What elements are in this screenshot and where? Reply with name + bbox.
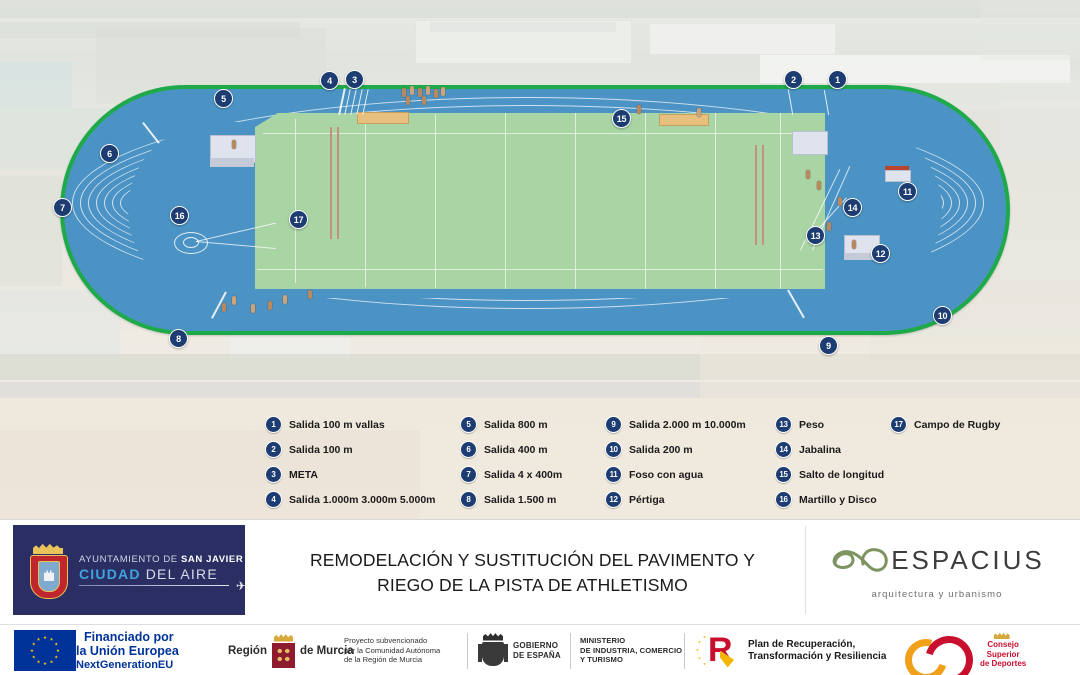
legend-item-8[interactable]: 8Salida 1.500 m [460,487,562,512]
legend-item-17[interactable]: 17Campo de Rugby [890,412,1000,437]
footer-divider [684,633,685,669]
legend-badge-13: 13 [775,416,792,433]
legend-badge-10: 10 [605,441,622,458]
del-aire-word: DEL AIRE [141,566,218,582]
csd-line3: de Deportes [980,659,1026,669]
legend-label-7: Salida 4 x 400m [484,469,562,481]
runner-figure [410,86,414,95]
pitch-line [780,113,781,289]
marker-4-salida-1000-3000-5000[interactable]: 4 [320,71,339,90]
prtr-line2: Transformación y Resiliencia [748,651,886,663]
legend-item-12[interactable]: 12Pértiga [605,487,746,512]
star-icon [696,649,699,652]
legend-item-11[interactable]: 11Foso con agua [605,462,746,487]
shield-inner [38,561,60,592]
legend-label-9: Salida 2.000 m 10.000m [629,419,746,431]
eu-star-icon [50,637,54,641]
ministerio-industria-comercio-turismo: MINISTERIO DE INDUSTRIA, COMERCIO Y TURI… [580,625,682,675]
airplane-icon: ✈ [236,579,246,593]
pillar-icon [478,644,482,662]
athlete-figure [806,170,810,179]
espacius-wordmark-row: ESPACIUS [829,540,1045,580]
high-jump-mat-side [210,158,254,167]
legend-column-2: 5Salida 800 m6Salida 400 m7Salida 4 x 40… [460,412,562,512]
subvencion-text: Proyecto subvencionado por la Comunidad … [344,636,440,665]
ministerio-text: MINISTERIO DE INDUSTRIA, COMERCIO Y TURI… [580,636,682,665]
legend-column-4: 13Peso14Jabalina15Salto de longitud16Mar… [775,412,884,512]
legend-item-6[interactable]: 6Salida 400 m [460,437,562,462]
ayuntamiento-prefix: AYUNTAMIENTO DE [79,554,181,565]
pillar-icon [504,644,508,662]
legend-label-10: Salida 200 m [629,444,693,456]
runner-figure [251,304,255,313]
pitch-line [295,119,296,283]
runner-figure [308,290,312,299]
runner-figure [232,296,236,305]
athlete-figure [827,222,831,231]
eu-star-icon [43,636,47,640]
rugby-goal-post [762,145,764,245]
legend-label-1: Salida 100 m vallas [289,419,385,431]
pitch-line [505,113,506,289]
eu-star-icon [50,660,54,664]
spain-coat-of-arms-icon [478,633,508,669]
eu-line2: la Unión Europea [76,644,179,658]
murcia-pre: Región [228,645,267,657]
long-jump-sandpit [357,112,409,124]
runner-figure [422,96,426,105]
legend-label-12: Pértiga [629,494,665,506]
legend-badge-12: 12 [605,491,622,508]
eu-star-icon [54,642,58,646]
legend-item-10[interactable]: 10Salida 200 m [605,437,746,462]
eu-star-icon [43,662,47,666]
star-icon [703,663,706,666]
runner-figure [402,88,406,97]
coat-of-arms-icon [27,543,69,597]
espacius-tagline: arquitectura y urbanismo [872,589,1003,600]
ayuntamiento-san-javier-logo: AYUNTAMIENTO DE SAN JAVIER CIUDAD DEL AI… [13,525,245,615]
project-title-line1: REMODELACIÓN Y SUSTITUCIÓN DEL PAVIMENTO… [260,548,805,573]
pitch-line [575,113,576,289]
eu-star-icon [37,637,41,641]
legend-item-4[interactable]: 4Salida 1.000m 3.000m 5.000m [265,487,436,512]
legend-badge-8: 8 [460,491,477,508]
legend-label-2: Salida 100 m [289,444,353,456]
pitch-line [435,114,436,288]
athlete-figure [817,181,821,190]
shield-body [272,643,295,668]
espacius-monogram-icon [829,540,891,580]
legend-item-13[interactable]: 13Peso [775,412,884,437]
legend-item-1[interactable]: 1Salida 100 m vallas [265,412,436,437]
ministerio-line1: MINISTERIO [580,636,682,646]
legend-badge-6: 6 [460,441,477,458]
eu-line3: NextGenerationEU [76,658,179,672]
eu-star-icon [37,660,41,664]
csd-logo: Consejo Superior de Deportes [905,625,1026,675]
subvencion-line2: por la Comunidad Autónoma [344,646,440,656]
legend: 1Salida 100 m vallas2Salida 100 m3META4S… [265,412,1065,512]
subvencion-line3: de la Región de Murcia [344,655,440,665]
prtr-emblem-icon: R [696,631,742,671]
rugby-goal-post [755,145,757,245]
marker-10-salida-200-m[interactable]: 10 [933,306,952,325]
prtr-text: Plan de Recuperación, Transformación y R… [748,639,886,663]
legend-badge-9: 9 [605,416,622,433]
long-jump-sandpit [659,114,709,126]
gobierno-de-espana-logo: GOBIERNO DE ESPAÑA [478,625,561,675]
legend-label-8: Salida 1.500 m [484,494,556,506]
legend-badge-4: 4 [265,491,282,508]
marker-9-salida-2000-10000[interactable]: 9 [819,336,838,355]
prtr-line1: Plan de Recuperación, [748,639,886,651]
water-jump-pit [885,170,911,182]
ayuntamiento-text: AYUNTAMIENTO DE SAN JAVIER CIUDAD DEL AI… [79,554,243,587]
ayuntamiento-line1: AYUNTAMIENTO DE SAN JAVIER [79,554,243,565]
marker-14-jabalina[interactable]: 14 [843,198,862,217]
gobierno-line1: GOBIERNO [513,641,561,651]
csd-text-block: Consejo Superior de Deportes [977,632,1026,669]
marker-2-salida-100-m[interactable]: 2 [784,70,803,89]
legend-badge-7: 7 [460,466,477,483]
castles-icon [276,647,291,663]
pole-vault-landing-mat [792,131,828,155]
marker-7-salida-4x400-m[interactable]: 7 [53,198,72,217]
pitch-line [257,269,823,270]
marker-12-pertiga[interactable]: 12 [871,244,890,263]
rugby-pitch [255,113,825,289]
legend-badge-17: 17 [890,416,907,433]
csd-red-arc-icon [917,627,982,675]
runner-figure [426,86,430,95]
castle-icon [44,569,54,581]
legend-item-3[interactable]: 3META [265,462,436,487]
legend-item-15[interactable]: 15Salto de longitud [775,462,884,487]
eu-star-icon [32,642,36,646]
star-icon [703,636,706,639]
csd-line1: Consejo [980,640,1026,650]
rugby-goal-post [337,127,339,239]
runner-figure [637,105,641,114]
legend-item-14[interactable]: 14Jabalina [775,437,884,462]
murcia-shield-icon [271,634,296,668]
ayuntamiento-line2: CIUDAD DEL AIRE [79,566,243,582]
marker-16-martillo-y-disco[interactable]: 16 [170,206,189,225]
pitch-line [263,133,823,134]
gobierno-text: GOBIERNO DE ESPAÑA [513,641,561,661]
project-title: REMODELACIÓN Y SUSTITUCIÓN DEL PAVIMENTO… [260,548,805,598]
legend-column-5: 17Campo de Rugby [890,412,1000,437]
pitch-line [365,115,366,287]
runner-figure [441,87,445,96]
funding-footer: Financiado por la Unión Europea NextGene… [0,624,1080,675]
legend-item-5[interactable]: 5Salida 800 m [460,412,562,437]
eu-funding-text: Financiado por la Unión Europea NextGene… [76,630,179,672]
legend-label-11: Foso con agua [629,469,703,481]
athlete-figure [232,140,236,149]
eu-line1: Financiado por [84,630,179,644]
throwing-cage [174,232,208,254]
marker-15-salto-de-longitud[interactable]: 15 [612,109,631,128]
eu-star-icon [54,655,58,659]
espacius-logo: ESPACIUS arquitectura y urbanismo [805,526,1068,614]
region-de-murcia-logo: Región de Murcia [228,625,354,675]
athletics-track-plan-page: 1234567891011121314151617 1Salida 100 m … [0,0,1080,675]
logo-underline: ✈ [79,585,229,587]
legend-badge-11: 11 [605,466,622,483]
shield-body [482,642,504,666]
prtr-logo: R Plan de Recuperación, Transformación y… [696,625,886,675]
marker-3-meta[interactable]: 3 [345,70,364,89]
project-title-line2: RIEGO DE LA PISTA DE ATHLETISMO [260,573,805,598]
runner-figure [434,89,438,98]
title-band: AYUNTAMIENTO DE SAN JAVIER CIUDAD DEL AI… [0,519,1080,625]
crown-icon [33,543,63,554]
legend-label-16: Martillo y Disco [799,494,877,506]
legend-item-7[interactable]: 7Salida 4 x 400m [460,462,562,487]
legend-badge-15: 15 [775,466,792,483]
csd-emblem-icon [905,631,969,671]
legend-badge-1: 1 [265,416,282,433]
marker-1-salida-100-m-vallas[interactable]: 1 [828,70,847,89]
european-union-flag-icon [14,630,76,671]
legend-badge-16: 16 [775,491,792,508]
athlete-figure [852,240,856,249]
legend-label-13: Peso [799,419,824,431]
marker-5-salida-800-m[interactable]: 5 [214,89,233,108]
marker-11-foso-con-agua[interactable]: 11 [898,182,917,201]
athlete-figure [838,197,842,206]
runner-figure [222,303,226,312]
legend-column-3: 9Salida 2.000 m 10.000m10Salida 200 m11F… [605,412,746,512]
ministerio-line3: Y TURISMO [580,655,682,665]
marker-17-campo-de-rugby[interactable]: 17 [289,210,308,229]
legend-item-9[interactable]: 9Salida 2.000 m 10.000m [605,412,746,437]
ciudad-word: CIUDAD [79,566,141,582]
rugby-goal-post [330,127,332,239]
eu-star-icon [56,649,60,653]
gobierno-line2: DE ESPAÑA [513,651,561,661]
legend-label-15: Salto de longitud [799,469,884,481]
marker-8-salida-1500-m[interactable]: 8 [169,329,188,348]
legend-label-4: Salida 1.000m 3.000m 5.000m [289,494,436,506]
subvencion-line1: Proyecto subvencionado [344,636,440,646]
pitch-line [715,113,716,289]
legend-badge-2: 2 [265,441,282,458]
star-icon [698,657,701,660]
ministerio-line2: DE INDUSTRIA, COMERCIO [580,646,682,656]
eu-funding-logo: Financiado por la Unión Europea NextGene… [14,625,179,675]
legend-column-1: 1Salida 100 m vallas2Salida 100 m3META4S… [265,412,436,512]
legend-label-17: Campo de Rugby [914,419,1000,431]
marker-6-salida-400-m[interactable]: 6 [100,144,119,163]
footer-divider [570,633,571,669]
comunidad-autonoma-subvencion-text: Proyecto subvencionado por la Comunidad … [344,625,440,675]
runner-figure [406,96,410,105]
pitch-markings [255,113,825,289]
shield-body [30,555,68,599]
espacius-name: ESPACIUS [891,545,1045,576]
legend-label-14: Jabalina [799,444,841,456]
csd-line2: Superior [980,650,1026,660]
legend-label-3: META [289,469,318,481]
crown-icon [274,634,293,642]
legend-label-5: Salida 800 m [484,419,548,431]
legend-badge-14: 14 [775,441,792,458]
runner-figure [418,88,422,97]
eu-star-icon [30,649,34,653]
footer-divider [467,633,468,669]
runner-figure [697,108,701,117]
legend-badge-3: 3 [265,466,282,483]
legend-item-2[interactable]: 2Salida 100 m [265,437,436,462]
crown-icon [994,632,1010,639]
marker-13-peso[interactable]: 13 [806,226,825,245]
legend-item-16[interactable]: 16Martillo y Disco [775,487,884,512]
runner-figure [283,295,287,304]
star-icon [698,641,701,644]
crown-icon [483,633,503,641]
runner-figure [268,301,272,310]
ayuntamiento-city: SAN JAVIER [181,554,243,565]
legend-label-6: Salida 400 m [484,444,548,456]
eu-star-icon [32,655,36,659]
legend-badge-5: 5 [460,416,477,433]
pitch-line [645,113,646,289]
